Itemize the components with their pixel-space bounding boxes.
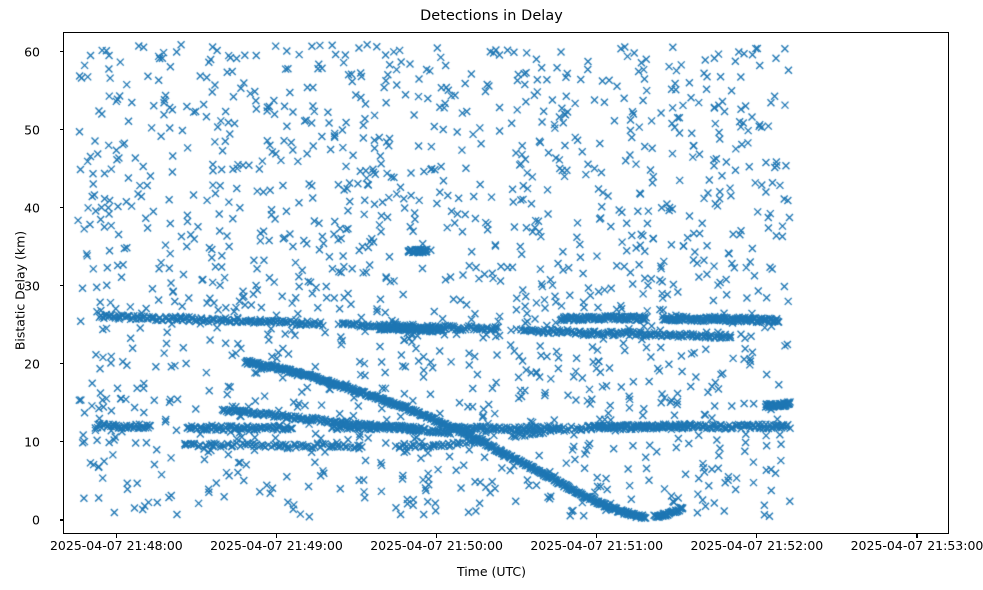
- page-title: Detections in Delay: [0, 8, 983, 24]
- matplotlib-figure: Detections in Delay 0102030405060 2025-0…: [0, 0, 983, 590]
- y-tick-label: 10: [24, 434, 40, 449]
- y-tick-mark: [60, 51, 64, 52]
- scatter-plot-canvas: [64, 33, 949, 534]
- x-tick-label: 2025-04-07 21:51:00: [530, 538, 663, 553]
- y-axis-label: Bistatic Delay (km): [13, 161, 28, 421]
- y-tick-mark: [60, 129, 64, 130]
- x-tick-label: 2025-04-07 21:50:00: [370, 538, 503, 553]
- y-tick-mark: [60, 519, 64, 520]
- y-tick-label: 60: [24, 44, 40, 59]
- y-tick-mark: [60, 363, 64, 364]
- y-tick-label: 0: [32, 512, 40, 527]
- x-tick-label: 2025-04-07 21:53:00: [851, 538, 983, 553]
- x-tick-label: 2025-04-07 21:52:00: [690, 538, 823, 553]
- y-tick-label: 50: [24, 122, 40, 137]
- x-tick-label: 2025-04-07 21:48:00: [50, 538, 183, 553]
- x-axis-label: Time (UTC): [0, 564, 983, 579]
- plot-axes-area: [63, 32, 949, 534]
- y-tick-mark: [60, 285, 64, 286]
- y-tick-mark: [60, 207, 64, 208]
- x-tick-label: 2025-04-07 21:49:00: [210, 538, 343, 553]
- y-tick-mark: [60, 441, 64, 442]
